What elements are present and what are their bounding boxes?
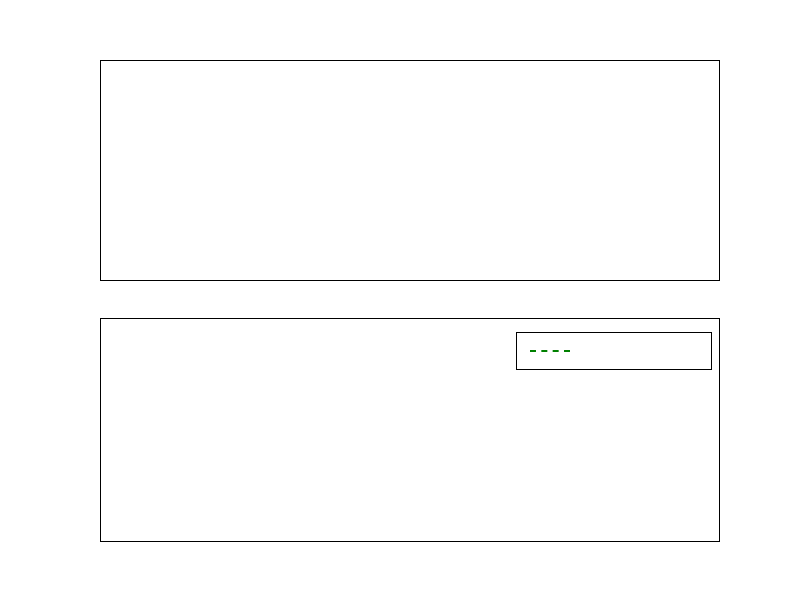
bottom-cumulative-axes xyxy=(100,318,720,542)
legend-box xyxy=(516,332,712,370)
top-histogram-axes xyxy=(100,60,720,281)
histogram-bars xyxy=(101,61,719,280)
figure-canvas xyxy=(0,0,800,600)
mag-limit-line-icon xyxy=(530,350,570,352)
